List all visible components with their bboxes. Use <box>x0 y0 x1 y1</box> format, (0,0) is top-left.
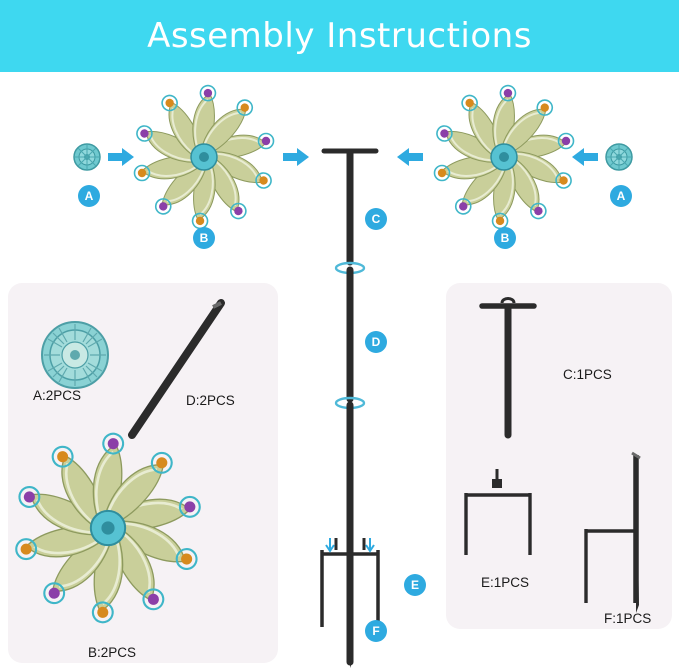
part-label-e: E:1PCS <box>481 575 529 590</box>
pinwheel-right <box>434 84 574 231</box>
callout-b-right: B <box>494 227 516 249</box>
callout-e: E <box>404 574 426 596</box>
arrow-left-icon-right-2 <box>397 148 423 166</box>
part-label-b: B:2PCS <box>88 645 136 660</box>
callout-a-left: A <box>78 185 100 207</box>
part-label-f: F:1PCS <box>604 611 651 626</box>
callout-a-right: A <box>610 185 632 207</box>
callout-c: C <box>365 208 387 230</box>
part-c-t-pole-icon <box>482 299 534 436</box>
part-e-stake-icon <box>466 469 530 555</box>
arrow-right-icon-left-1 <box>108 148 134 166</box>
part-a-cap-icon <box>42 322 108 388</box>
part-label-c: C:1PCS <box>563 367 612 382</box>
part-label-d: D:2PCS <box>186 393 235 408</box>
part-label-a: A:2PCS <box>33 388 81 403</box>
callout-d: D <box>365 331 387 353</box>
part-f-stake-icon <box>586 453 640 613</box>
page-title: Assembly Instructions <box>147 16 532 56</box>
part-b-pinwheel-icon <box>16 431 201 625</box>
parts-panel-left-contents <box>8 283 278 663</box>
cap-right <box>606 144 632 170</box>
assembly-instructions-page: Assembly Instructions <box>0 0 679 671</box>
cap-left <box>74 144 100 170</box>
parts-panel-right-contents <box>446 283 672 629</box>
arrow-left-icon-right-1 <box>572 148 598 166</box>
part-d-pole-icon <box>132 303 221 435</box>
header-banner: Assembly Instructions <box>0 0 679 72</box>
pinwheel-left <box>134 84 274 231</box>
callout-f: F <box>365 620 387 642</box>
callout-b-left: B <box>193 227 215 249</box>
arrow-right-icon-left-2 <box>283 148 309 166</box>
